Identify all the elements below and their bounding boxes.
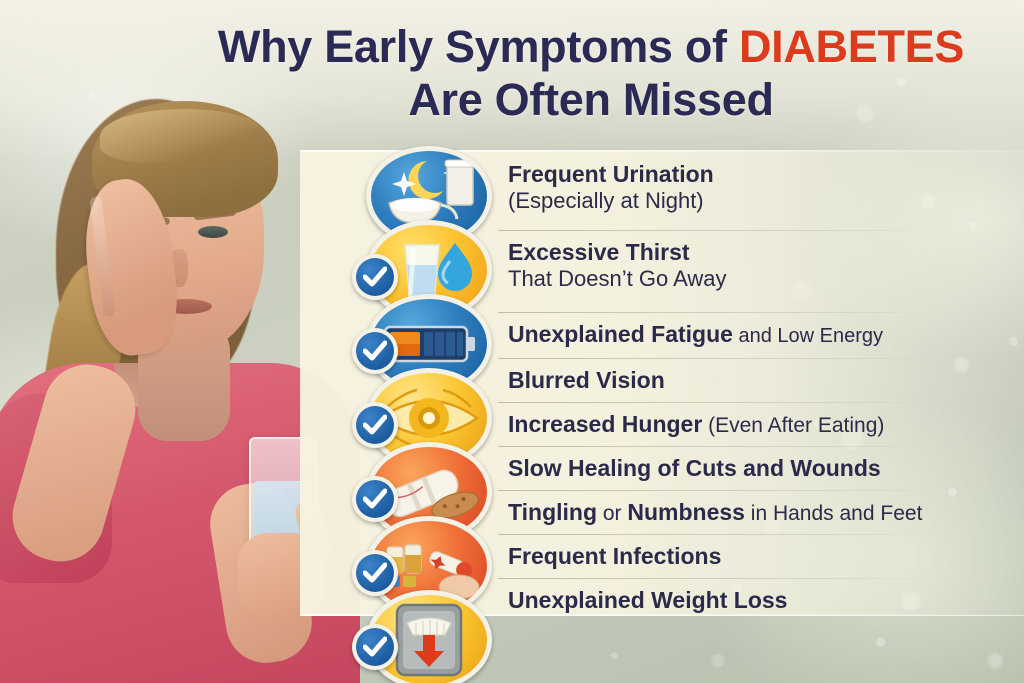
symptom-mid: or [597, 502, 627, 525]
symptom-trailing: and Low Energy [733, 325, 883, 347]
list-item[interactable]: Slow Healing of Cuts and Wounds [508, 446, 881, 482]
row-divider [498, 312, 936, 313]
symptom-primary: Slow Healing of Cuts and Wounds [508, 455, 881, 481]
symptom-primary: Frequent Infections [508, 543, 721, 569]
symptom-primary: Blurred Vision [508, 367, 665, 393]
symptom-trailing: (Even After Eating) [702, 414, 884, 437]
page-title: Why Early Symptoms of DIABETES Are Often… [170, 24, 1012, 122]
list-item[interactable]: Frequent Infections [508, 534, 721, 570]
row-divider [498, 446, 936, 447]
symptom-primary: Excessive Thirst [508, 239, 690, 265]
symptom-primary-a: Tingling [508, 499, 597, 525]
row-divider [498, 402, 936, 403]
list-item[interactable]: Increased Hunger (Even After Eating) [508, 402, 884, 438]
check-badge [352, 624, 398, 670]
list-item[interactable]: Excessive Thirst That Doesn’t Go Away [508, 230, 727, 291]
row-divider [498, 358, 936, 359]
title-line1-text: Why Early Symptoms of [218, 21, 739, 72]
list-item[interactable]: Unexplained Weight Loss [508, 578, 787, 614]
symptom-secondary: (Especially at Night) [508, 188, 704, 213]
list-item[interactable]: Tingling or Numbness in Hands and Feet [508, 490, 922, 526]
infographic-canvas: Why Early Symptoms of DIABETES Are Often… [0, 0, 1024, 683]
title-line2: Are Often Missed [170, 77, 1012, 122]
list-item[interactable]: Frequent Urination (Especially at Night) [508, 162, 714, 213]
badge-weight-loss[interactable] [352, 590, 492, 683]
symptom-secondary: That Doesn’t Go Away [508, 266, 727, 291]
row-divider [498, 578, 936, 579]
symptom-trailing: in Hands and Feet [745, 502, 922, 525]
eye-right [198, 226, 228, 238]
symptom-primary: Unexplained Weight Loss [508, 587, 787, 613]
row-divider [498, 230, 936, 231]
row-divider [498, 534, 936, 535]
symptom-primary: Frequent Urination [508, 161, 714, 187]
row-divider [498, 490, 936, 491]
icon-badge-column [352, 146, 512, 656]
list-item[interactable]: Blurred Vision [508, 358, 665, 394]
title-highlight-diabetes: DIABETES [739, 21, 964, 72]
symptom-primary-b: Numbness [627, 499, 745, 525]
list-item[interactable]: Unexplained Fatigue and Low Energy [508, 312, 883, 348]
symptom-primary: Increased Hunger [508, 411, 702, 437]
symptom-primary: Unexplained Fatigue [508, 321, 733, 347]
